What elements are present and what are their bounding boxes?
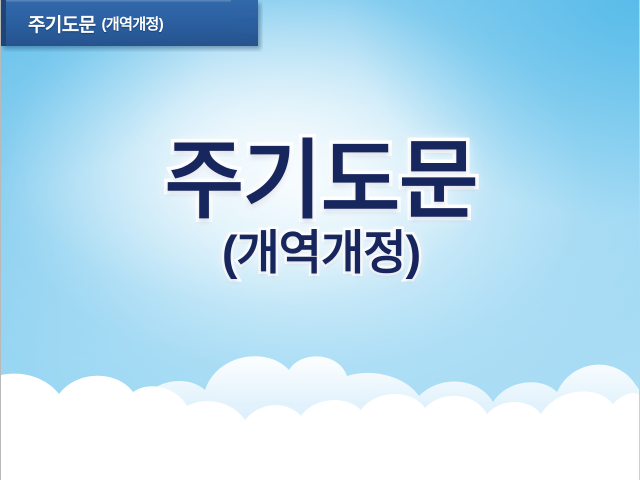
page-title: 주기도문 xyxy=(1,138,640,226)
hero-title-block: 주기도문 (개역개정) xyxy=(1,138,640,277)
cloud-illustration xyxy=(1,340,640,480)
banner-subtitle: (개역개정) xyxy=(102,13,164,34)
banner-label-group: 주기도문 (개역개정) xyxy=(28,0,163,46)
page-subtitle: (개역개정) xyxy=(1,228,640,277)
slide-canvas: 주기도문 (개역개정) 주기도문 (개역개정) xyxy=(0,0,640,480)
banner-title: 주기도문 xyxy=(28,10,96,37)
